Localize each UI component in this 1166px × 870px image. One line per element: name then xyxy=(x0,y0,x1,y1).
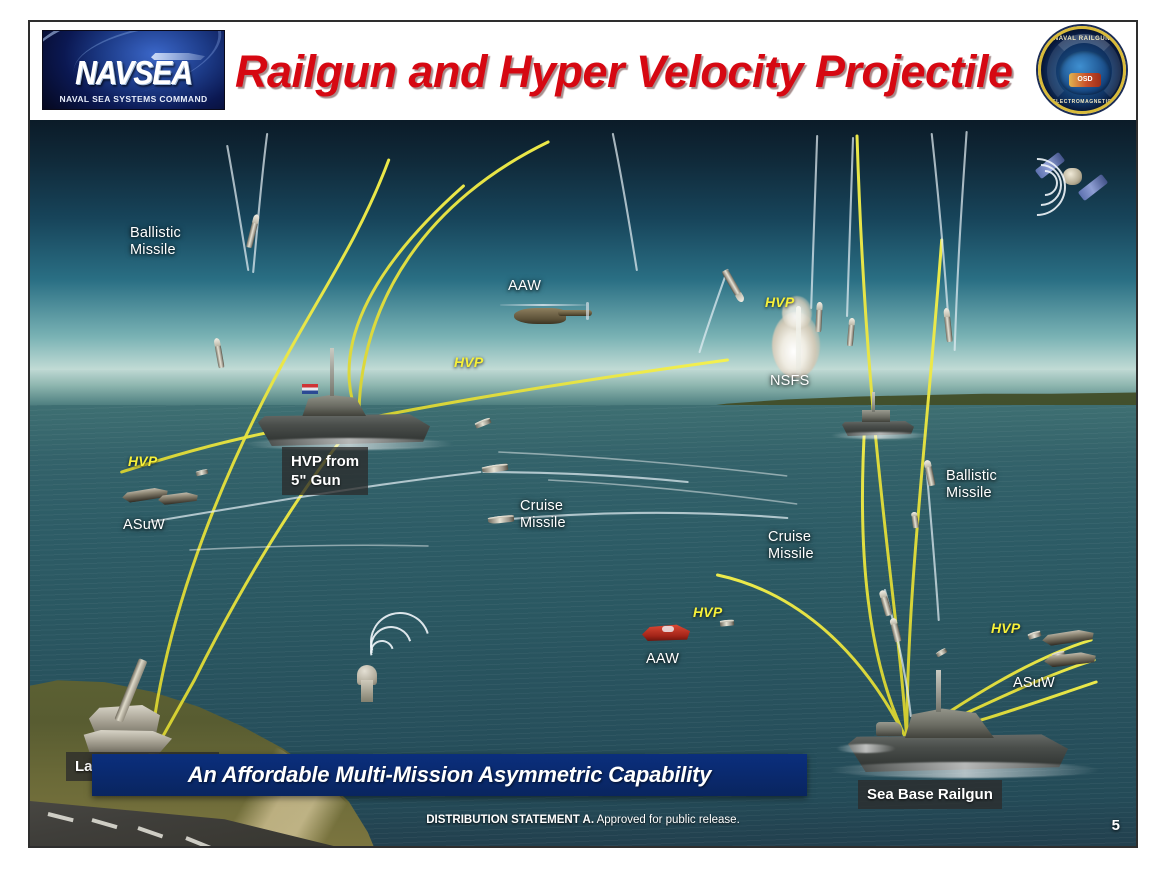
seal-center-text: OSD xyxy=(1069,73,1101,87)
distribution-statement-bold: DISTRIBUTION STATEMENT A. xyxy=(426,814,594,826)
callout-hvp-from-5in-gun: HVP from 5" Gun xyxy=(282,447,368,495)
land-base-railgun-platform xyxy=(76,730,172,754)
sea-base-railgun-bow-wave xyxy=(836,744,896,753)
nsfs-impact-column xyxy=(796,306,801,384)
land-radar-pedestal xyxy=(361,680,373,702)
destroyer-hvp-gun-mast xyxy=(330,348,334,396)
escort-ship-mast xyxy=(872,392,875,412)
page-number: 5 xyxy=(1112,817,1120,834)
callout-sea-base-railgun: Sea Base Railgun xyxy=(858,780,1002,809)
distribution-statement-rest: Approved for public release. xyxy=(594,814,740,826)
distribution-statement: DISTRIBUTION STATEMENT A. Approved for p… xyxy=(30,814,1136,826)
aaw-target-drone-canopy xyxy=(662,626,674,632)
tagline-banner: An Affordable Multi-Mission Asymmetric C… xyxy=(92,754,807,796)
escort-ship-superstructure xyxy=(862,410,890,422)
hvp-round-sprite xyxy=(720,619,734,626)
helicopter-main-rotor xyxy=(500,304,586,306)
battlespace-illustration: Ballistic Missile AAW HVP HVP NSFS HVP A… xyxy=(30,120,1136,848)
navsea-logo: NAVSEA NAVAL SEA SYSTEMS COMMAND xyxy=(42,30,225,110)
navsea-subtitle: NAVAL SEA SYSTEMS COMMAND xyxy=(43,94,224,104)
page-title: Railgun and Hyper Velocity Projectile xyxy=(235,40,1035,104)
navsea-wordmark: NAVSEA xyxy=(43,55,224,93)
helicopter-tail-rotor xyxy=(586,302,589,320)
seal-bottom-text: ELECTROMAGNETIC xyxy=(1041,99,1123,105)
escort-ship-wake xyxy=(830,432,930,439)
destroyer-hvp-gun-flag xyxy=(302,384,318,394)
naval-railgun-seal-icon: NAVAL RAILGUN OSD ELECTROMAGNETIC xyxy=(1038,26,1126,114)
slide-page: NAVSEA NAVAL SEA SYSTEMS COMMAND Railgun… xyxy=(0,0,1166,870)
sea-base-railgun-gun-turret xyxy=(876,722,902,736)
slide-header: NAVSEA NAVAL SEA SYSTEMS COMMAND Railgun… xyxy=(30,22,1136,120)
sea-base-railgun-wake xyxy=(830,762,1100,778)
slide-frame: NAVSEA NAVAL SEA SYSTEMS COMMAND Railgun… xyxy=(28,20,1138,848)
seal-top-text: NAVAL RAILGUN xyxy=(1041,36,1123,42)
tagline-text: An Affordable Multi-Mission Asymmetric C… xyxy=(188,762,712,788)
sea-base-railgun-mast xyxy=(936,670,941,712)
